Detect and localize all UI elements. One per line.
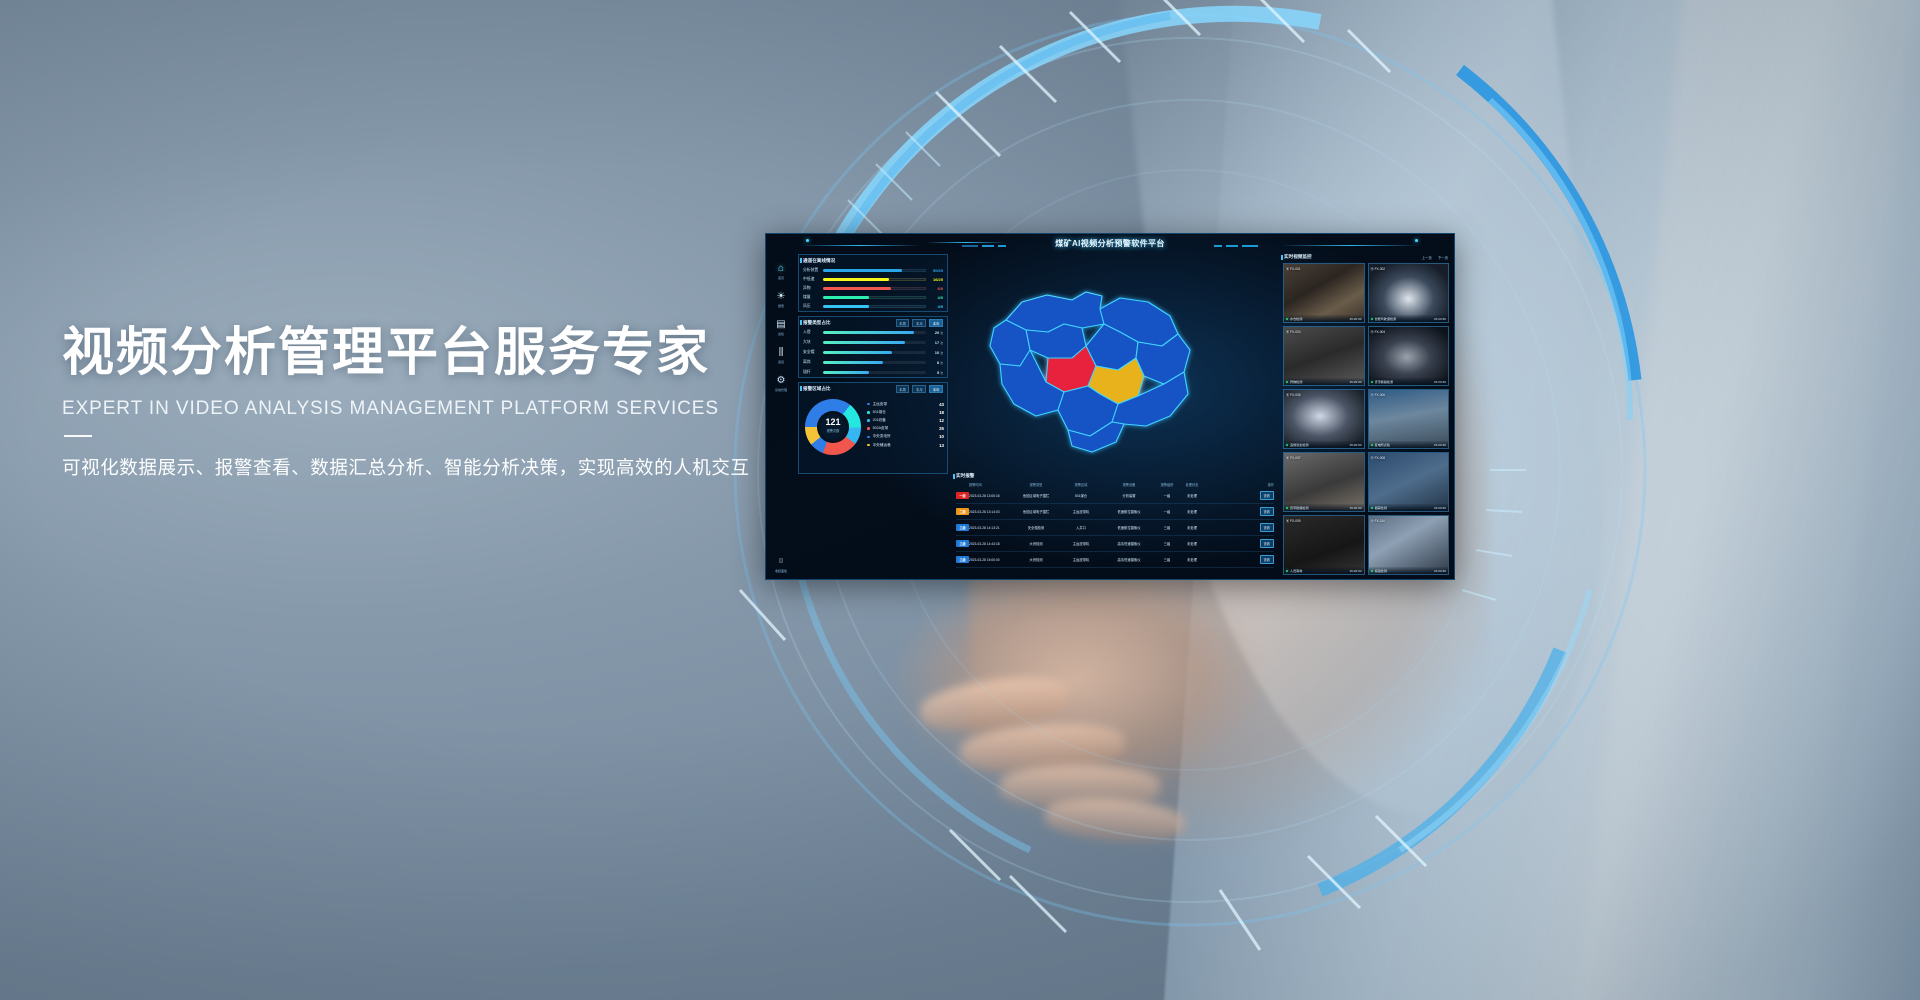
alarm-area-panel: 报警区域占比 本周本月本年 121 报警次数 主运皮带43501煤仓18201绞… <box>798 382 948 474</box>
panel-title: 实时报警 <box>956 473 974 479</box>
legend-dot <box>867 436 870 439</box>
channel-row: 中低速16/25 <box>803 275 943 283</box>
video-tile[interactable]: ⦿ FX-004皮带撕裂检测15:20:30 <box>1368 326 1450 386</box>
prev-page-button[interactable]: 上一页 <box>1422 255 1432 260</box>
gear-icon: ⚙ <box>766 375 796 386</box>
realtime-alarm-panel: 实时报警 报警时间报警类型报警区域报警设备报警级别处理状态操作 一级2023-0… <box>952 471 1278 576</box>
alarm-device: 高清低速摄像仪 <box>1103 541 1155 546</box>
status-dot <box>1286 570 1288 572</box>
donut-total: 121 <box>805 417 861 427</box>
sidebar-item-channel[interactable]: ⫼ 通道 <box>766 347 796 364</box>
video-name: 异物检测 <box>1290 379 1349 384</box>
sidebar-item-home[interactable]: ⌂ 首页 <box>766 263 796 280</box>
alarm-area: 主运皮带机 <box>1059 557 1103 562</box>
legend-item: 主运皮带43 <box>867 400 944 408</box>
video-time: 15:20:30 <box>1434 380 1446 384</box>
alarm-device: 低速斯拉摄像仪 <box>1103 525 1155 530</box>
alarm-column-header: 报警级别 <box>1155 482 1179 487</box>
sidebar-item-settings[interactable]: ⚙ 系统管理 <box>766 375 796 392</box>
view-button[interactable]: 查看 <box>1260 507 1274 516</box>
status-dot <box>1371 507 1373 509</box>
alarm-level: 一级 <box>1155 509 1179 514</box>
alarm-type-row: 大块17次 <box>803 338 943 346</box>
alarm-level-badge: 二级 <box>956 508 969 515</box>
legend-dot <box>867 444 870 447</box>
video-time: 15:20:30 <box>1434 443 1446 447</box>
alarm-type-label: 锚杆 <box>803 370 823 375</box>
alarm-type-bar-fill <box>823 351 892 354</box>
hero-description: 可视化数据展示、报警查看、数据汇总分析、智能分析决策，实现高效的人机交互 <box>62 454 762 480</box>
video-name: 皮带撕裂检测 <box>1375 379 1434 384</box>
sidebar-item-label: 巡检 <box>767 331 796 336</box>
video-grid[interactable]: ⦿ FX-001水仓检测15:20:30⦿ FX-002智能驾驶通检测15:20… <box>1283 263 1449 575</box>
video-tile[interactable]: ⦿ FX-010超速检测15:20:30 <box>1368 515 1450 575</box>
video-tile[interactable]: ⦿ FX-007皮带跑偏检测15:20:30 <box>1283 452 1365 512</box>
video-tile[interactable]: ⦿ FX-006变电所点检15:20:30 <box>1368 389 1450 449</box>
alarm-type-label: 入侵 <box>803 330 823 335</box>
sidebar-item-label: 首页 <box>767 275 796 280</box>
sidebar-collapse-button[interactable]: ◫ 收起面板 <box>766 556 796 573</box>
video-time: 15:20:30 <box>1434 506 1446 510</box>
legend-value: 25 <box>932 426 944 431</box>
video-name: 水仓检测 <box>1290 316 1349 321</box>
video-channel-id: ⦿ FX-001 <box>1286 266 1301 271</box>
channel-bar-track <box>823 287 926 290</box>
status-dot <box>1371 318 1373 320</box>
alarm-icon: ☀ <box>766 291 796 302</box>
alarm-type-value: 20次 <box>926 330 943 335</box>
alarm-status: 未处理 <box>1179 509 1205 514</box>
channel-row: 煤量4/9 <box>803 293 943 301</box>
video-time: 15:20:30 <box>1349 506 1361 510</box>
alarm-area: 501煤仓 <box>1059 493 1103 498</box>
legend-dot <box>867 403 870 406</box>
channel-row: 异物6/9 <box>803 284 943 292</box>
alarm-type-label: 离岗 <box>803 360 823 365</box>
status-dot <box>1286 381 1288 383</box>
alarm-type-tab-0[interactable]: 本周 <box>896 319 910 327</box>
video-name: 违规靠坐检测 <box>1290 442 1349 447</box>
alarm-level-badge: 三级 <box>956 556 969 563</box>
legend-dot <box>867 411 870 414</box>
video-time: 15:20:30 <box>1349 569 1361 573</box>
dashboard-title: 煤矿AI视频分析预警软件平台 <box>1055 238 1165 249</box>
alarm-type-bar-track <box>823 361 926 364</box>
panel-title: 报警区域占比 <box>803 386 831 392</box>
next-page-button[interactable]: 下一页 <box>1438 255 1448 260</box>
sidebar-item-label: 通道 <box>767 359 796 364</box>
alarm-column-header: 报警时间 <box>969 482 1013 487</box>
alarm-area-tabs[interactable]: 本周本月本年 <box>896 385 943 393</box>
donut-hole <box>817 411 849 443</box>
alarm-status: 未处理 <box>1179 541 1205 546</box>
channel-value: 4/9 <box>926 304 943 309</box>
alarm-type-label: 安全帽 <box>803 350 823 355</box>
video-thumbnail <box>1284 327 1364 385</box>
donut-caption: 报警次数 <box>805 428 861 433</box>
video-tile[interactable]: ⦿ FX-003异物检测15:20:30 <box>1283 326 1365 386</box>
alarm-time: 2023-03-28 15:00:00 <box>969 558 1013 562</box>
alarm-status: 未处理 <box>1179 493 1205 498</box>
alarm-level: 一级 <box>1155 493 1179 498</box>
collapse-icon: ◫ <box>766 556 796 567</box>
channel-bar-fill <box>823 287 891 290</box>
alarm-type-bar-fill <box>823 361 883 364</box>
alarm-area-legend: 主运皮带43501煤仓18201绞囊12502A皮带25中央变电所10中央辅运巷… <box>867 400 944 449</box>
panel-title: 实时视频监控 <box>1284 254 1312 260</box>
hero-copy: 视频分析管理平台服务专家 EXPERT IN VIDEO ANALYSIS MA… <box>62 324 762 480</box>
table-row[interactable]: 三级2023-03-28 14:43:18大块检测主运皮带机高清低速摄像仪三级未… <box>956 536 1274 552</box>
channel-bar-fill <box>823 278 889 281</box>
video-pager[interactable]: 上一页 下一页 <box>1422 255 1448 260</box>
alarm-level-badge: 一级 <box>956 492 969 499</box>
alarm-type: 大块检测 <box>1013 541 1059 546</box>
alarm-area-tab-1[interactable]: 本月 <box>912 385 926 393</box>
video-thumbnail <box>1369 327 1449 385</box>
alarm-area: 主运皮带机 <box>1059 541 1103 546</box>
alarm-type: 安全帽检测 <box>1013 525 1059 530</box>
video-channel-id: ⦿ FX-008 <box>1371 455 1386 460</box>
video-thumbnail <box>1284 390 1364 448</box>
alarm-type-value: 8次 <box>926 360 943 365</box>
legend-value: 18 <box>932 410 944 415</box>
legend-value: 12 <box>932 418 944 423</box>
table-row[interactable]: 三级2023-03-28 14:13:21安全帽检测入井口低速斯拉摄像仪三级未处… <box>956 520 1274 536</box>
alarm-type-tab-2[interactable]: 本年 <box>929 319 943 327</box>
view-button[interactable]: 查看 <box>1260 523 1274 532</box>
alarm-device: 高清低速摄像仪 <box>1103 557 1155 562</box>
legend-item: 502A皮带25 <box>867 425 944 433</box>
video-name: 烟雾检测 <box>1375 505 1434 510</box>
channel-bar-fill <box>823 305 869 308</box>
panel-title: 报警类型占比 <box>803 320 831 326</box>
legend-dot <box>867 419 870 422</box>
video-thumbnail <box>1284 516 1364 574</box>
alarm-type-bar-track <box>823 351 926 354</box>
video-name: 变电所点检 <box>1375 442 1434 447</box>
video-channel-id: ⦿ FX-005 <box>1286 392 1301 397</box>
table-row[interactable]: 一级2023-03-28 13:00:16危险区域电子围栏501煤仓分析装置一级… <box>956 488 1274 504</box>
hero-subtitle-en: EXPERT IN VIDEO ANALYSIS MANAGEMENT PLAT… <box>62 398 762 420</box>
alarm-column-header: 报警类型 <box>1013 482 1059 487</box>
alarm-type-row: 安全帽10次 <box>803 348 943 356</box>
alarm-time: 2023-03-28 14:13:21 <box>969 526 1013 530</box>
video-channel-id: ⦿ FX-010 <box>1371 518 1386 523</box>
alarm-table-header: 报警时间报警类型报警区域报警设备报警级别处理状态操作 <box>956 482 1274 487</box>
video-thumbnail <box>1369 264 1449 322</box>
legend-value: 13 <box>932 443 944 448</box>
video-channel-id: ⦿ FX-003 <box>1286 329 1301 334</box>
status-dot <box>1371 444 1373 446</box>
alarm-type-row: 入侵20次 <box>803 328 943 336</box>
alarm-type-bar-fill <box>823 331 914 334</box>
legend-dot <box>867 427 870 430</box>
sidebar-item-inspection[interactable]: ▤ 巡检 <box>766 319 796 336</box>
alarm-device: 分析装置 <box>1103 493 1155 498</box>
alarm-level: 三级 <box>1155 525 1179 530</box>
alarm-level-badge: 三级 <box>956 540 969 547</box>
video-channel-id: ⦿ FX-004 <box>1371 329 1386 334</box>
video-time: 15:20:30 <box>1434 569 1446 573</box>
alarm-level-badge: 三级 <box>956 524 969 531</box>
alarm-type: 危险区域电子围栏 <box>1013 493 1059 498</box>
alarm-type-value: 5次 <box>926 370 943 375</box>
video-tile[interactable]: ⦿ FX-001水仓检测15:20:30 <box>1283 263 1365 323</box>
video-thumbnail <box>1284 453 1364 511</box>
video-thumbnail <box>1369 516 1449 574</box>
table-row[interactable]: 二级2023-03-28 13:14:03危险区域电子围栏主运皮带机低速斯拉摄像… <box>956 504 1274 520</box>
alarm-area-tab-2[interactable]: 本年 <box>929 385 943 393</box>
alarm-column-header: 操作 <box>1205 482 1274 487</box>
alarm-level: 三级 <box>1155 557 1179 562</box>
home-icon: ⌂ <box>766 263 796 274</box>
map-svg <box>952 254 1234 469</box>
video-tile[interactable]: ⦿ FX-002智能驾驶通检测15:20:30 <box>1368 263 1450 323</box>
video-channel-id: ⦿ FX-006 <box>1371 392 1386 397</box>
legend-value: 43 <box>932 402 944 407</box>
alarm-column-header <box>956 482 969 487</box>
video-tile[interactable]: ⦿ FX-008烟雾检测15:20:30 <box>1368 452 1450 512</box>
alarm-column-header: 处理状态 <box>1179 482 1205 487</box>
table-row[interactable]: 三级2023-03-28 15:00:00大块检测主运皮带机高清低速摄像仪三级未… <box>956 552 1274 568</box>
channel-value: 4/9 <box>926 295 943 300</box>
alarm-type-bar-fill <box>823 371 869 374</box>
alarm-area: 入井口 <box>1059 525 1103 530</box>
dashboard-screen[interactable]: 煤矿AI视频分析预警软件平台 ⌂ 首页 ☀ 报警 ▤ 巡检 ⫼ 通道 <box>765 233 1455 580</box>
channel-value: 6/9 <box>926 286 943 291</box>
video-monitor-panel: 实时视频监控 上一页 下一页 ⦿ FX-001水仓检测15:20:30⦿ FX-… <box>1280 252 1452 577</box>
video-channel-id: ⦿ FX-007 <box>1286 455 1301 460</box>
video-tile[interactable]: ⦿ FX-005违规靠坐检测15:20:30 <box>1283 389 1365 449</box>
alarm-type-label: 大块 <box>803 340 823 345</box>
video-name: 智能驾驶通检测 <box>1375 316 1434 321</box>
view-button[interactable]: 查看 <box>1260 555 1274 564</box>
legend-item: 201绞囊12 <box>867 416 944 424</box>
alarm-level: 三级 <box>1155 541 1179 546</box>
video-name: 皮带跑偏检测 <box>1290 505 1349 510</box>
view-button[interactable]: 查看 <box>1260 539 1274 548</box>
alarm-time: 2023-03-28 14:43:18 <box>969 542 1013 546</box>
status-dot <box>1286 318 1288 320</box>
status-dot <box>1286 444 1288 446</box>
alarm-table-body[interactable]: 一级2023-03-28 13:00:16危险区域电子围栏501煤仓分析装置一级… <box>956 488 1274 568</box>
legend-item: 中央辅运巷13 <box>867 441 944 449</box>
channel-bar-fill <box>823 269 902 272</box>
video-tile[interactable]: ⦿ FX-009人员离岗15:20:30 <box>1283 515 1365 575</box>
status-dot <box>1286 507 1288 509</box>
alarm-type-bar-track <box>823 341 926 344</box>
panel-title: 通道在离线情况 <box>803 258 835 264</box>
legend-label: 中央变电所 <box>873 434 932 439</box>
alarm-status: 未处理 <box>1179 557 1205 562</box>
channel-icon: ⫼ <box>766 347 796 358</box>
video-thumbnail <box>1369 390 1449 448</box>
status-dot <box>1371 381 1373 383</box>
alarm-type-tabs[interactable]: 本周本月本年 <box>896 319 943 327</box>
alarm-type: 危险区域电子围栏 <box>1013 509 1059 514</box>
channel-label: 分析装置 <box>803 268 823 273</box>
alarm-type-bar-track <box>823 331 926 334</box>
alarm-type-panel: 报警类型占比 本周本月本年 入侵20次大块17次安全帽10次离岗8次锚杆5次 <box>798 316 948 378</box>
channel-bar-fill <box>823 296 869 299</box>
channel-label: 中低速 <box>803 277 823 282</box>
channel-row: 风压4/9 <box>803 302 943 310</box>
alarm-time: 2023-03-28 13:14:03 <box>969 510 1013 514</box>
channel-label: 风压 <box>803 304 823 309</box>
province-map[interactable] <box>952 254 1234 469</box>
video-time: 15:20:30 <box>1349 443 1361 447</box>
channel-bar-track <box>823 296 926 299</box>
page-title: 视频分析管理平台服务专家 <box>62 324 762 382</box>
alarm-type-value: 17次 <box>926 340 943 345</box>
sidebar-collapse-label: 收起面板 <box>767 568 796 573</box>
alarm-area-donut: 121 报警次数 <box>805 399 861 455</box>
sidebar-item-label: 系统管理 <box>767 387 796 392</box>
video-thumbnail <box>1284 264 1364 322</box>
channel-status-panel: 通道在离线情况 分析装置50/65中低速16/25异物6/9煤量4/9风压4/9 <box>798 254 948 312</box>
video-time: 15:20:30 <box>1434 317 1446 321</box>
alarm-type: 大块检测 <box>1013 557 1059 562</box>
alarm-area-tab-0[interactable]: 本周 <box>896 385 910 393</box>
legend-label: 中央辅运巷 <box>873 443 932 448</box>
legend-label: 501煤仓 <box>873 410 932 415</box>
video-channel-id: ⦿ FX-002 <box>1371 266 1386 271</box>
alarm-type-value: 10次 <box>926 350 943 355</box>
channel-bar-track <box>823 278 926 281</box>
video-time: 15:20:30 <box>1349 380 1361 384</box>
alarm-column-header: 报警设备 <box>1103 482 1155 487</box>
video-channel-id: ⦿ FX-009 <box>1286 518 1301 523</box>
alarm-type-tab-1[interactable]: 本月 <box>912 319 926 327</box>
alarm-area: 主运皮带机 <box>1059 509 1103 514</box>
video-name: 超速检测 <box>1375 568 1434 573</box>
channel-value: 50/65 <box>926 268 943 273</box>
channel-label: 煤量 <box>803 295 823 300</box>
legend-item: 501煤仓18 <box>867 408 944 416</box>
alarm-column-header: 报警区域 <box>1059 482 1103 487</box>
channel-value: 16/25 <box>926 277 943 282</box>
alarm-device: 低速斯拉摄像仪 <box>1103 509 1155 514</box>
alarm-type-row: 锚杆5次 <box>803 368 943 376</box>
channel-bar-track <box>823 305 926 308</box>
hero-divider <box>64 435 92 437</box>
alarm-time: 2023-03-28 13:00:16 <box>969 494 1013 498</box>
alarm-type-bar-track <box>823 371 926 374</box>
legend-label: 201绞囊 <box>873 418 932 423</box>
sidebar-item-label: 报警 <box>767 303 796 308</box>
legend-label: 主运皮带 <box>873 402 932 407</box>
video-thumbnail <box>1369 453 1449 511</box>
alarm-status: 未处理 <box>1179 525 1205 530</box>
video-time: 15:20:30 <box>1349 317 1361 321</box>
legend-value: 10 <box>932 434 944 439</box>
sidebar-item-alarm[interactable]: ☀ 报警 <box>766 291 796 308</box>
status-dot <box>1371 570 1373 572</box>
channel-label: 异物 <box>803 286 823 291</box>
channel-bar-track <box>823 269 926 272</box>
alarm-type-bar-fill <box>823 341 905 344</box>
legend-label: 502A皮带 <box>873 426 932 431</box>
sidebar[interactable]: ⌂ 首页 ☀ 报警 ▤ 巡检 ⫼ 通道 ⚙ 系统管理 ◫ 收起面板 <box>766 252 796 579</box>
video-name: 人员离岗 <box>1290 568 1349 573</box>
channel-row: 分析装置50/65 <box>803 266 943 274</box>
alarm-type-row: 离岗8次 <box>803 358 943 366</box>
inspection-icon: ▤ <box>766 319 796 330</box>
legend-item: 中央变电所10 <box>867 433 944 441</box>
view-button[interactable]: 查看 <box>1260 491 1274 500</box>
